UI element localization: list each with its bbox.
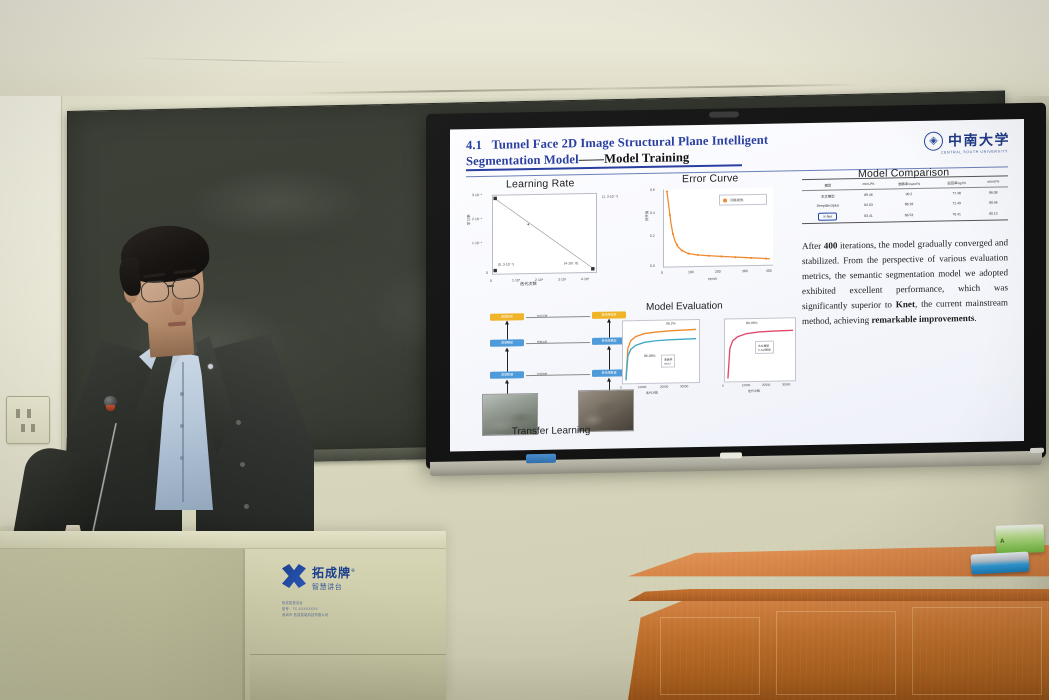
podium-edge-divider xyxy=(243,549,245,700)
podium-brand-text: 拓成牌 xyxy=(312,566,351,580)
podium-brand: 拓成牌® 智慧讲台 xyxy=(282,564,356,592)
knet-highlight-box: K-Net xyxy=(818,212,837,220)
desk-inlay-panel-2 xyxy=(776,611,896,695)
lr-xaxis-label: 迭代次数 xyxy=(520,281,537,287)
cell-recall: 77.48 xyxy=(935,187,979,198)
me-left-legend-1: 准确率 xyxy=(664,357,672,361)
ec-xtick-4: 400 xyxy=(766,269,772,273)
display-camera-icon xyxy=(709,111,739,118)
cell-miou: 83.41 xyxy=(854,209,884,223)
me-left-xtick-2: 20000 xyxy=(660,385,668,389)
whiteboard-eraser[interactable] xyxy=(971,551,1030,574)
me-right-xtick-2: 20000 xyxy=(762,383,770,387)
me-left-xaxis-label: 迭代次数 xyxy=(646,391,658,395)
lr-xtick-0: 0 xyxy=(490,279,492,283)
slide-paragraph: After 400 iterations, the model graduall… xyxy=(802,235,1008,329)
cell-miou2: 86.08 xyxy=(979,187,1008,198)
wall-left-panel xyxy=(0,96,62,526)
legend-marker-icon xyxy=(723,198,727,202)
lr-ytick-1: 1·10⁻⁴ xyxy=(472,241,482,245)
ec-xtick-0: 0 xyxy=(661,271,663,275)
error-curve-legend: 训练损失 xyxy=(719,194,767,206)
me-left-xtick-1: 10000 xyxy=(638,385,646,389)
para-bold-knet: Knet xyxy=(896,299,915,309)
ec-ytick-4: 0.4 xyxy=(650,211,655,215)
model-evaluation-heading: Model Evaluation xyxy=(646,301,723,313)
podium-brand-trademark: ® xyxy=(351,568,356,573)
podium-brand-name: 拓成牌® xyxy=(312,564,356,580)
ec-xaxis-label: epoch xyxy=(708,277,717,281)
cell-recall: 70.41 xyxy=(935,207,979,221)
lecture-room-scene: 4.1 Tunnel Face 2D Image Structural Plan… xyxy=(0,0,1049,700)
lr-annotation-top: (1, 3·10⁻⁴) xyxy=(602,194,618,198)
desk-inlay-panel-1 xyxy=(660,617,760,695)
slide-title: 4.1 Tunnel Face 2D Image Structural Plan… xyxy=(466,130,866,169)
university-logo-subtext: CENTRAL SOUTH UNIVERSITY xyxy=(941,149,1008,154)
me-left-annotation-2: 86.08% xyxy=(644,354,656,358)
para-seg-1: After xyxy=(802,241,824,251)
desk-inlay-panel-3 xyxy=(912,607,1042,695)
wooden-desk: A xyxy=(628,545,1049,700)
error-curve-chart: 训练损失 xyxy=(663,188,773,268)
ec-ytick-6: 0.6 xyxy=(650,188,655,192)
university-seal-icon: ◈ xyxy=(924,131,943,150)
error-curve-legend-label: 训练损失 xyxy=(730,197,744,202)
ec-yaxis-label: 损失值 xyxy=(644,211,649,221)
podium-fineprint-line3: 深圳市 拓成智能科技有限公司 xyxy=(282,612,329,618)
me-right-legend-2: K-Net模型 xyxy=(758,347,771,351)
wall-upper-band xyxy=(0,0,1049,96)
learning-rate-heading: Learning Rate xyxy=(506,177,575,190)
tl-box-bottom-left: 源域数据 xyxy=(490,371,524,379)
me-left-xtick-3: 30000 xyxy=(680,384,688,388)
model-comparison-table: 模型 mIoU/% 准确率\nacc/% 召回率\np/% mloU/% 本文模… xyxy=(802,175,1008,224)
desk-edge xyxy=(628,589,1049,601)
podium-lower-seam xyxy=(250,654,446,700)
me-left-xtick-0: 0 xyxy=(620,385,622,389)
ec-xtick-2: 200 xyxy=(715,270,721,274)
tl-box-bottom-right: 目标域数据 xyxy=(592,369,626,377)
lr-xtick-3: 3·10⁴ xyxy=(558,277,566,281)
lr-ytick-0: 0 xyxy=(486,271,488,275)
podium-brand-subtitle: 智慧讲台 xyxy=(312,582,356,592)
cell-miou: 89.46 xyxy=(854,189,884,200)
me-left-lines xyxy=(623,320,699,383)
lr-ytick-2: 2·10⁻⁴ xyxy=(472,217,482,221)
slide-title-number: 4.1 xyxy=(466,138,482,152)
ec-ytick-2: 0.2 xyxy=(650,234,655,238)
cell-miou2: 80.13 xyxy=(979,206,1008,220)
me-left-annotation-1: 90.2% xyxy=(666,321,676,325)
lr-yaxis-label: 学习率 xyxy=(467,214,472,225)
me-left-legend-2: mIoU xyxy=(664,361,672,365)
lectern-podium xyxy=(0,531,446,700)
ec-xtick-3: 300 xyxy=(742,269,748,273)
tl-box-mid-right: 目标域模型 xyxy=(592,337,626,345)
th-miou2: mloU/% xyxy=(979,176,1008,188)
slide-title-line2-blue: Segmentation Model xyxy=(466,152,579,168)
slide-canvas: 4.1 Tunnel Face 2D Image Structural Plan… xyxy=(450,119,1024,452)
power-outlet xyxy=(6,396,50,444)
me-right-xtick-0: 0 xyxy=(722,384,724,388)
lr-xtick-4: 4·10⁴ xyxy=(581,277,589,281)
green-supply-box[interactable]: A xyxy=(996,524,1045,554)
ledge-eraser-icon xyxy=(526,454,556,464)
me-left-legend: 准确率 mIoU xyxy=(661,354,675,367)
cell-acc: 86.53 xyxy=(883,208,934,222)
para-bold-400: 400 xyxy=(824,240,838,250)
ledge-chalk-secondary-icon xyxy=(1030,448,1044,453)
para-bold-remarkable: remarkable improvements xyxy=(871,313,974,325)
lr-xtick-1: 1·10⁴ xyxy=(512,278,520,282)
error-curve-heading: Error Curve xyxy=(682,172,738,185)
university-logo-text: 中南大学 xyxy=(948,129,1010,150)
ledge-chalk-icon xyxy=(720,452,742,458)
me-right-xtick-3: 30000 xyxy=(782,382,790,386)
podium-side-panel xyxy=(0,549,243,700)
lr-annotation-origin: (0, 3·10⁻⁴) xyxy=(498,262,514,266)
slide-title-dash: —— xyxy=(579,152,604,166)
table-row: K-Net 83.41 86.53 70.41 80.13 xyxy=(802,206,1008,223)
lr-annotation-end: (4·10⁴, 0) xyxy=(564,261,578,265)
th-miou: mIoU/% xyxy=(854,178,884,190)
lr-ytick-3: 3·10⁻⁴ xyxy=(472,193,482,197)
model-evaluation-chart-right: 本文模型 K-Net模型 xyxy=(724,317,796,382)
university-logo: ◈ 中南大学 xyxy=(924,129,1010,151)
ec-ytick-0: 0.0 xyxy=(650,264,655,268)
model-evaluation-chart-left: 准确率 mIoU xyxy=(622,319,700,384)
ec-xtick-1: 100 xyxy=(688,270,694,274)
th-recall: 召回率\np/% xyxy=(935,176,979,188)
podium-brand-fineprint: 拓成智慧讲台 型号：TC-XXXXXXXX 深圳市 拓成智能科技有限公司 xyxy=(282,600,329,618)
green-box-label-icon: A xyxy=(1000,539,1005,545)
me-right-legend: 本文模型 K-Net模型 xyxy=(755,341,774,354)
tl-box-mid-left: 源域模型 xyxy=(490,339,524,347)
presentation-display[interactable]: 4.1 Tunnel Face 2D Image Structural Plan… xyxy=(426,103,1046,469)
podium-top-surface xyxy=(0,531,446,549)
me-right-xaxis-label: 迭代次数 xyxy=(748,389,760,393)
slide-title-line2-black: Model Training xyxy=(604,150,689,166)
tuocheng-logo-icon xyxy=(282,564,306,588)
me-right-xtick-1: 10000 xyxy=(742,383,750,387)
para-seg-4: . xyxy=(974,313,976,323)
cell-model-highlighted: K-Net xyxy=(802,209,854,223)
me-right-annotation: 89.46% xyxy=(746,321,758,325)
slide-title-line1: Tunnel Face 2D Image Structural Plane In… xyxy=(492,133,769,152)
